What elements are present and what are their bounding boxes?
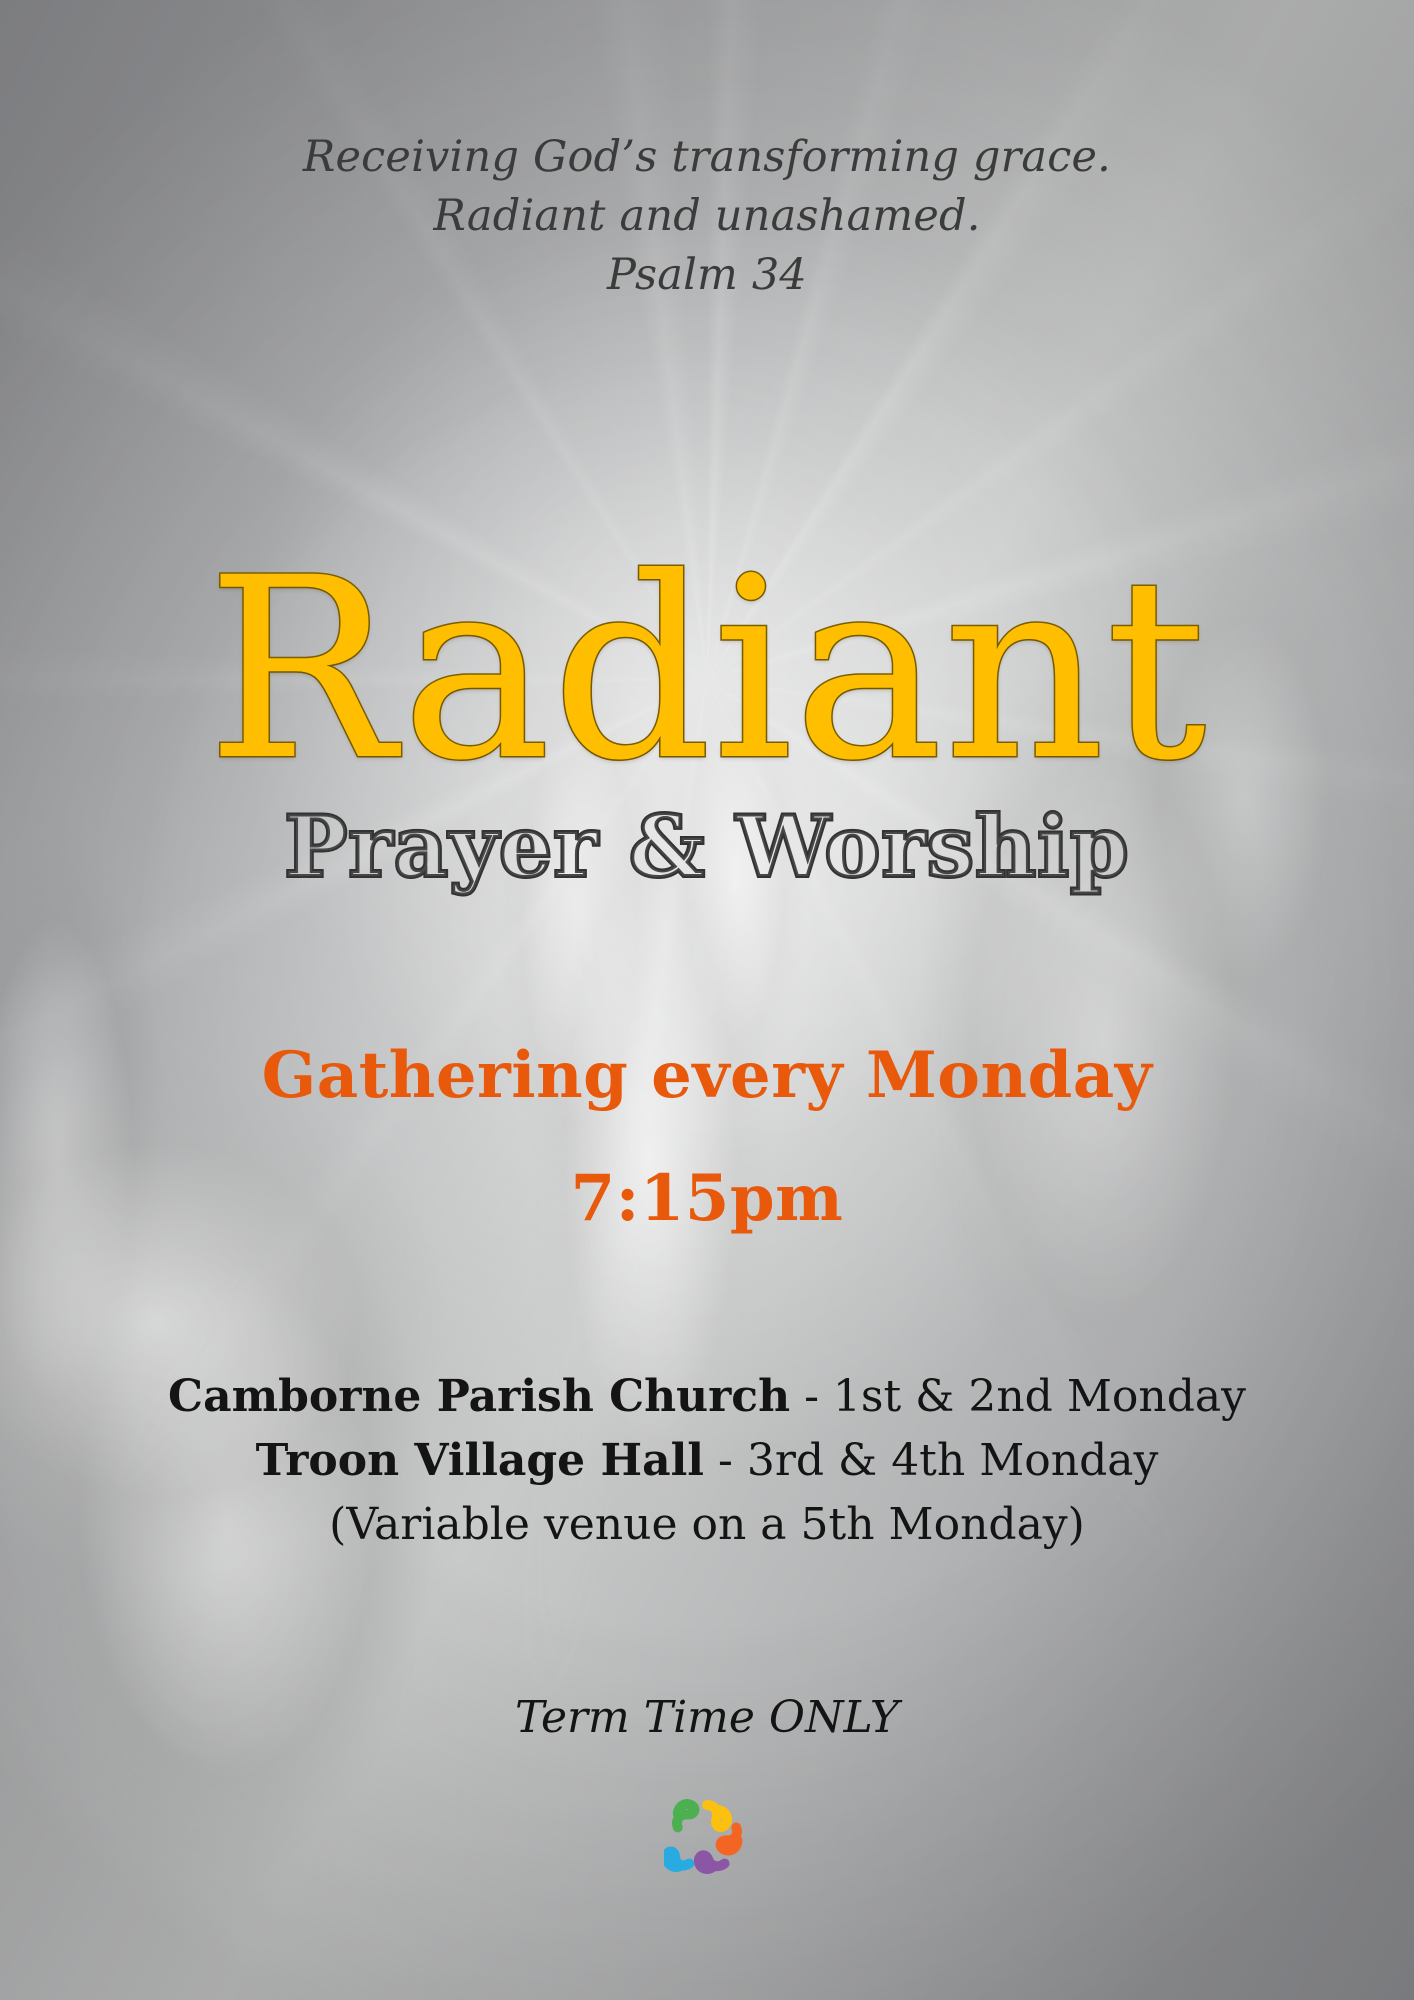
venue-row-2: Troon Village Hall - 3rd & 4th Monday [0, 1429, 1414, 1493]
poster-canvas: Receiving God’s transforming grace. Radi… [0, 0, 1414, 2000]
title-block: Radiant Prayer & Worship [0, 545, 1414, 893]
tagline-block: Receiving God’s transforming grace. Radi… [0, 128, 1414, 305]
page-title: Radiant [0, 545, 1414, 795]
venue-row-1: Camborne Parish Church - 1st & 2nd Monda… [0, 1365, 1414, 1429]
venue-1-when: - 1st & 2nd Monday [790, 1371, 1246, 1422]
venue-1-name: Camborne Parish Church [168, 1371, 790, 1422]
venue-note: (Variable venue on a 5th Monday) [0, 1493, 1414, 1557]
venue-2-when: - 3rd & 4th Monday [704, 1435, 1158, 1486]
term-time-note: Term Time ONLY [0, 1690, 1414, 1746]
tagline-scripture-reference: Psalm 34 [0, 246, 1414, 305]
gathering-time: 7:15pm [0, 1163, 1414, 1235]
pentagon-knot-logo-icon [664, 1793, 750, 1879]
tagline-line-2: Radiant and unashamed. [0, 187, 1414, 246]
venue-list: Camborne Parish Church - 1st & 2nd Monda… [0, 1365, 1414, 1557]
poster-content: Receiving God’s transforming grace. Radi… [0, 0, 1414, 2000]
gathering-heading: Gathering every Monday [0, 1040, 1414, 1112]
tagline-line-1: Receiving God’s transforming grace. [0, 128, 1414, 187]
venue-2-name: Troon Village Hall [256, 1435, 704, 1486]
